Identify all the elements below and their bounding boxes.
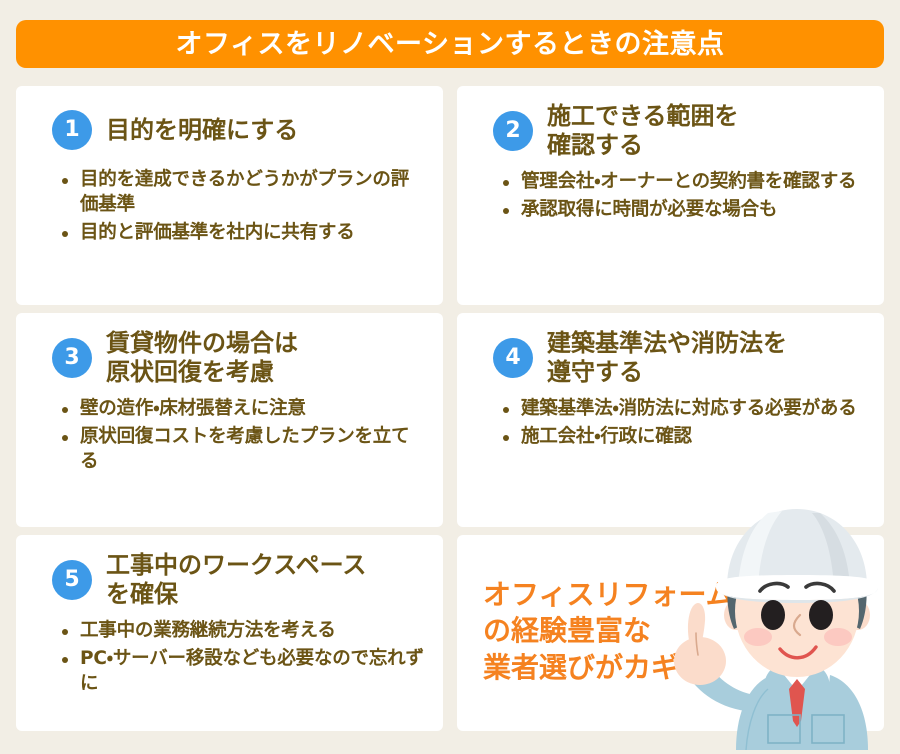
list-item: 工事中の業務継続方法を考える — [60, 619, 425, 644]
card-header: 4 建築基準法や消防法を 遵守する — [475, 329, 866, 387]
tips-grid: 1 目的を明確にする 目的を達成できるかどうかがプランの評価基準 目的と評価基準… — [16, 86, 884, 732]
list-item: PC・サーバー移設なども必要なので忘れずに — [60, 647, 425, 697]
list-item: 建築基準法・消防法に対応する必要がある — [501, 397, 866, 422]
step-number-badge: 1 — [52, 110, 92, 150]
list-item: 目的と評価基準を社内に共有する — [60, 221, 425, 246]
card-title-line2: 確認する — [547, 131, 739, 160]
list-item: 施工会社・行政に確認 — [501, 425, 866, 450]
step-number-badge: 2 — [493, 111, 533, 151]
promo-card: オフィスリフォーム の経験豊富な 業者選びがカギ — [457, 535, 884, 731]
promo-message: オフィスリフォーム の経験豊富な 業者選びがカギ — [483, 577, 734, 686]
card-title-line1: 賃貸物件の場合は — [106, 329, 298, 357]
list-item: 原状回復コストを考慮したプランを立てる — [60, 425, 425, 475]
step-number-badge: 5 — [52, 560, 92, 600]
promo-line-3: 業者選びがカギ — [483, 650, 734, 686]
list-item: 承認取得に時間が必要な場合も — [501, 198, 866, 223]
card-title-line1: 建築基準法や消防法を — [547, 329, 787, 357]
card-title-line2: 原状回復を考慮 — [106, 358, 298, 387]
card-title: 工事中のワークスペース を確保 — [106, 551, 366, 609]
promo-line-1: オフィスリフォーム — [483, 577, 734, 613]
header-banner: オフィスをリノベーションするときの注意点 — [16, 20, 884, 68]
card-title: 目的を明確にする — [106, 116, 298, 145]
card-title-line1: 工事中のワークスペース — [106, 551, 366, 579]
tip-card-4: 4 建築基準法や消防法を 遵守する 建築基準法・消防法に対応する必要がある 施工… — [457, 313, 884, 527]
bullet-list: 管理会社・オーナーとの契約書を確認する 承認取得に時間が必要な場合も — [475, 170, 866, 223]
card-header: 1 目的を明確にする — [34, 102, 425, 158]
bullet-list: 工事中の業務継続方法を考える PC・サーバー移設なども必要なので忘れずに — [34, 619, 425, 697]
list-item: 管理会社・オーナーとの契約書を確認する — [501, 170, 866, 195]
card-title: 施工できる範囲を 確認する — [547, 102, 739, 160]
page-title: オフィスをリノベーションするときの注意点 — [176, 31, 725, 58]
list-item: 壁の造作・床材張替えに注意 — [60, 397, 425, 422]
bullet-list: 壁の造作・床材張替えに注意 原状回復コストを考慮したプランを立てる — [34, 397, 425, 475]
card-title-line2: を確保 — [106, 580, 366, 609]
bullet-list: 建築基準法・消防法に対応する必要がある 施工会社・行政に確認 — [475, 397, 866, 450]
tip-card-1: 1 目的を明確にする 目的を達成できるかどうかがプランの評価基準 目的と評価基準… — [16, 86, 443, 305]
promo-line-2: の経験豊富な — [483, 613, 734, 649]
tip-card-3: 3 賃貸物件の場合は 原状回復を考慮 壁の造作・床材張替えに注意 原状回復コスト… — [16, 313, 443, 527]
list-item: 目的を達成できるかどうかがプランの評価基準 — [60, 168, 425, 218]
card-title-line2: 遵守する — [547, 358, 787, 387]
card-header: 5 工事中のワークスペース を確保 — [34, 551, 425, 609]
card-title-line1: 施工できる範囲を — [547, 102, 739, 130]
card-header: 3 賃貸物件の場合は 原状回復を考慮 — [34, 329, 425, 387]
card-title-line1: 目的を明確にする — [106, 116, 298, 144]
tip-card-2: 2 施工できる範囲を 確認する 管理会社・オーナーとの契約書を確認する 承認取得… — [457, 86, 884, 305]
step-number-badge: 3 — [52, 338, 92, 378]
tip-card-5: 5 工事中のワークスペース を確保 工事中の業務継続方法を考える PC・サーバー… — [16, 535, 443, 731]
bullet-list: 目的を達成できるかどうかがプランの評価基準 目的と評価基準を社内に共有する — [34, 168, 425, 246]
card-header: 2 施工できる範囲を 確認する — [475, 102, 866, 160]
card-title: 賃貸物件の場合は 原状回復を考慮 — [106, 329, 298, 387]
step-number-badge: 4 — [493, 338, 533, 378]
card-title: 建築基準法や消防法を 遵守する — [547, 329, 787, 387]
